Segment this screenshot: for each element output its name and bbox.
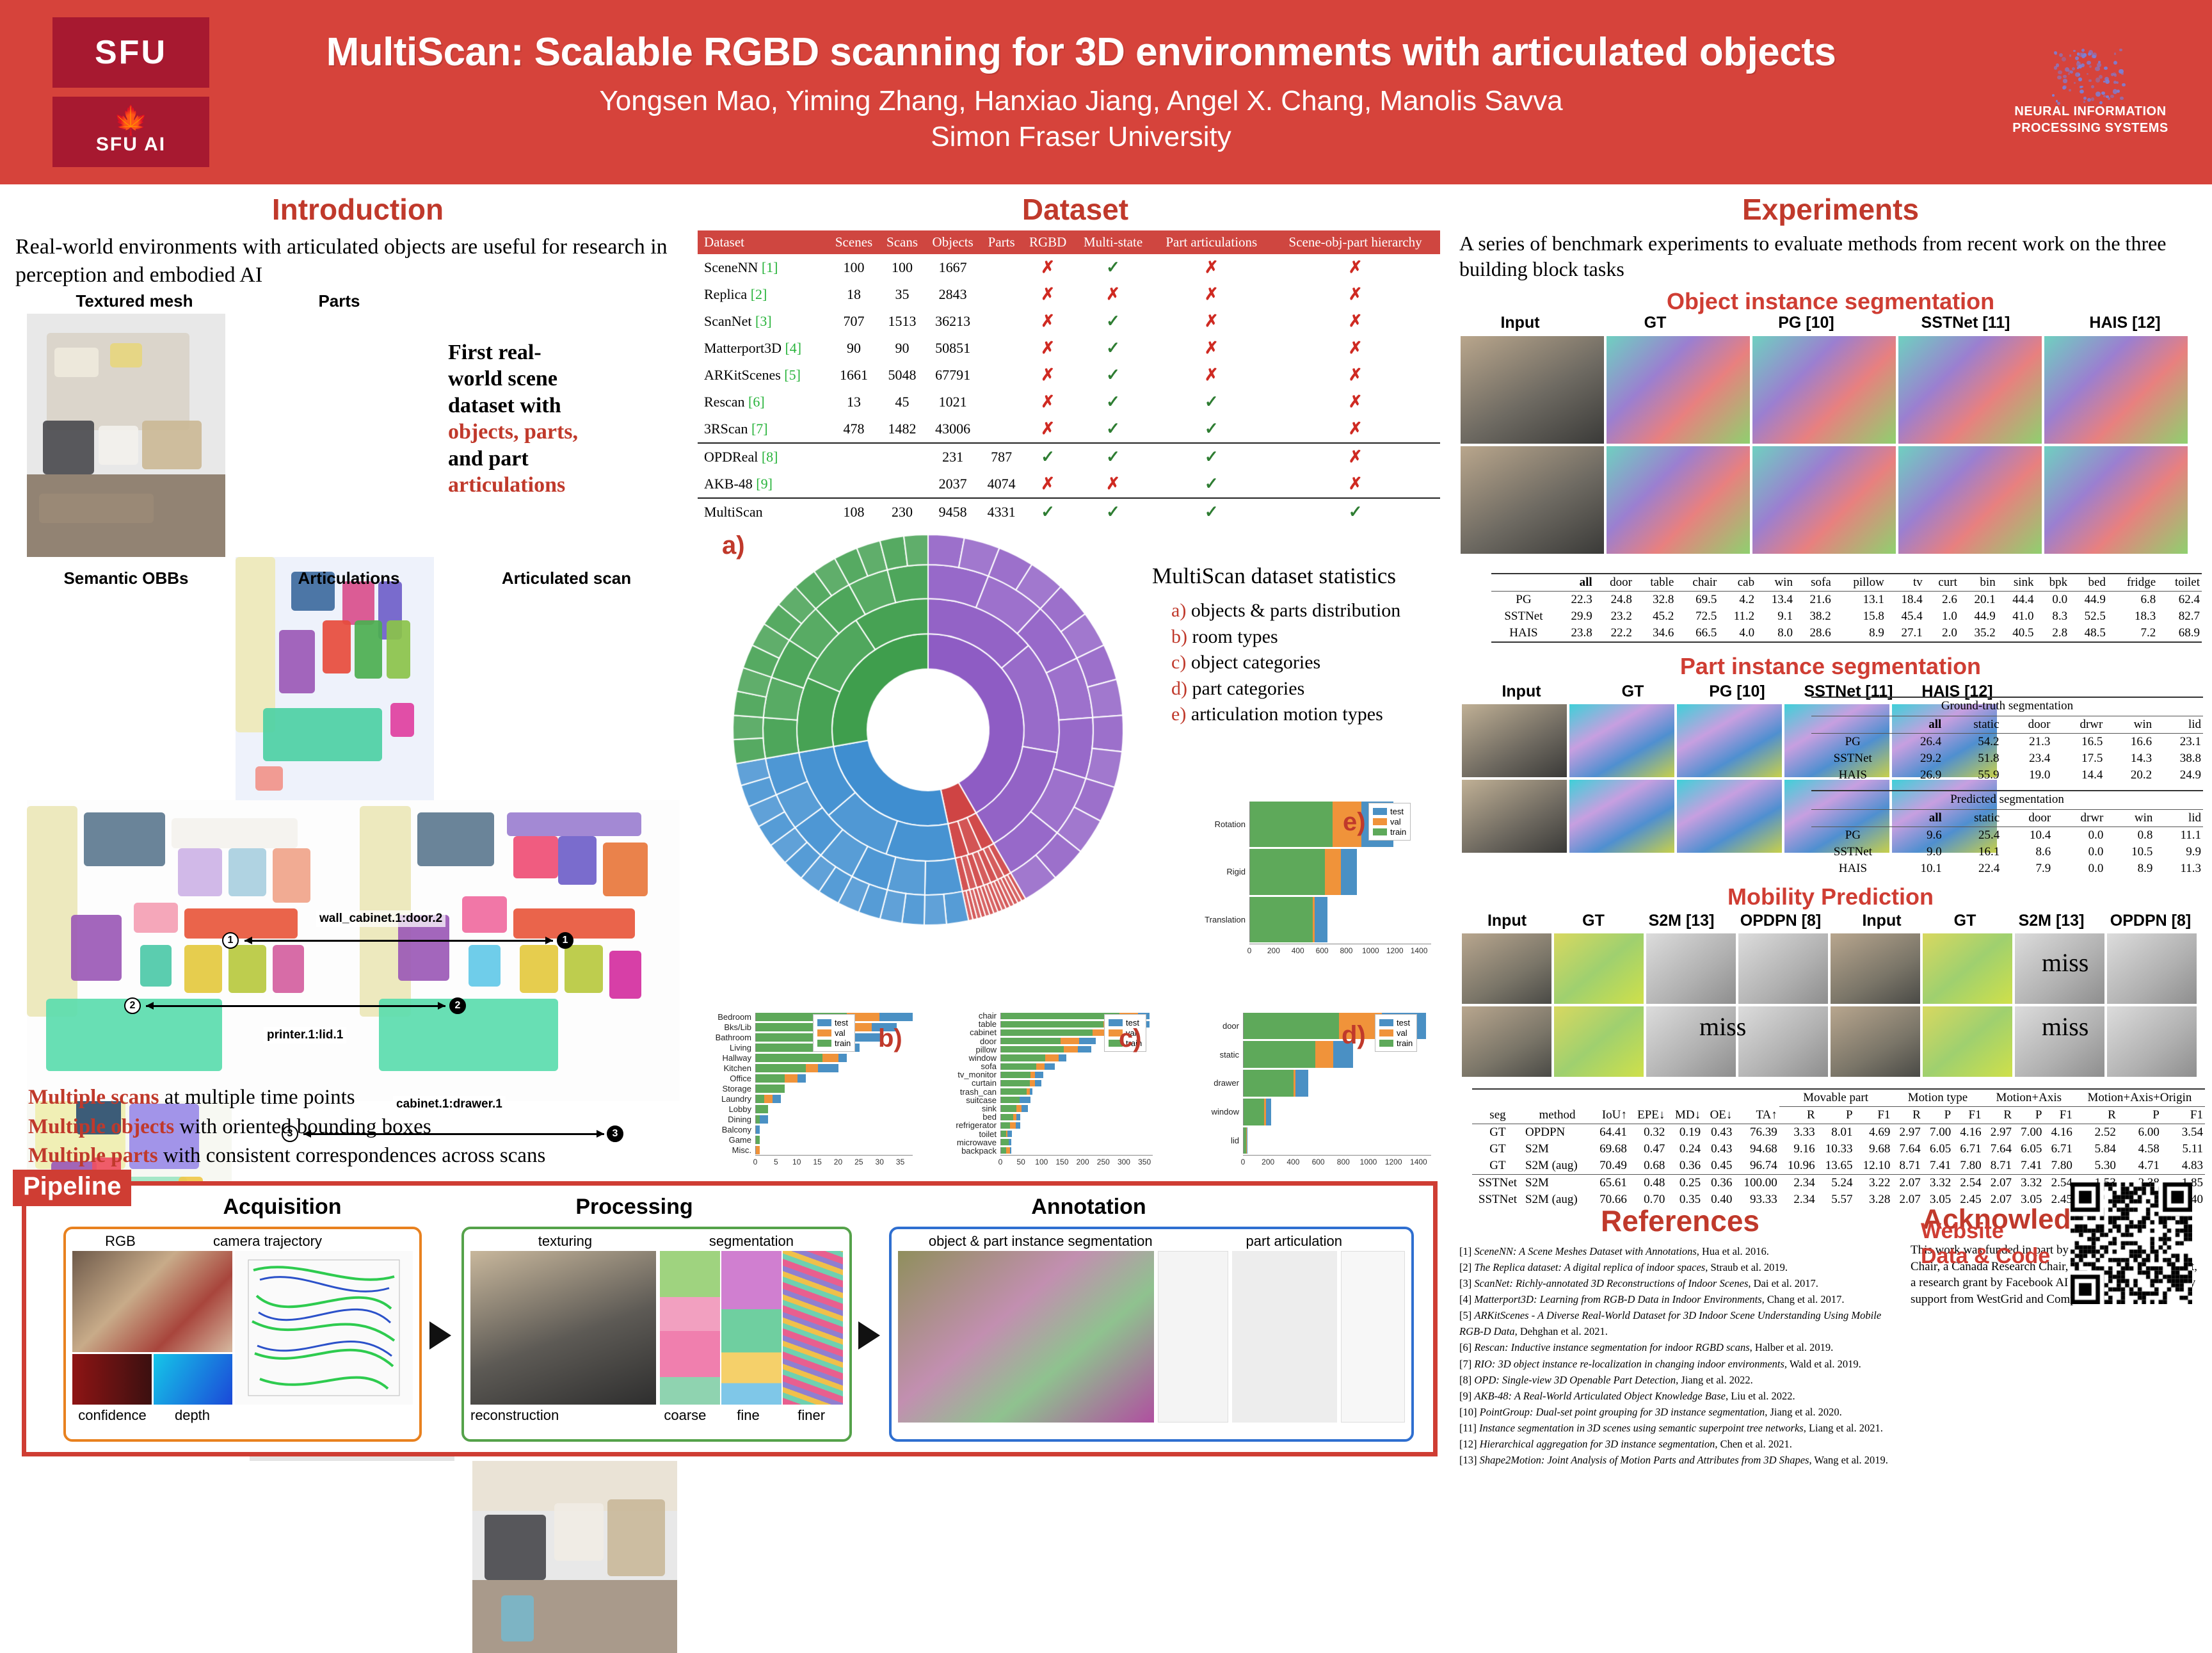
chart-segment-test <box>1009 1139 1012 1145</box>
cell-rgbd: ✗ <box>1022 362 1073 389</box>
col-rgbd: RGBD <box>1022 230 1073 254</box>
cell-hierarchy: ✗ <box>1270 415 1440 443</box>
objseg-col-gt: GT <box>1581 314 1729 332</box>
introduction-title: Introduction <box>15 192 700 227</box>
cell-value: 4.83 <box>2161 1157 2205 1175</box>
cell-parts: 4074 <box>981 471 1022 498</box>
cell-value: 62.4 <box>2158 592 2202 609</box>
chart-category-label: drawer <box>1203 1078 1243 1088</box>
cell-value: 22.2 <box>1594 625 1634 642</box>
check-icon: ✓ <box>1041 448 1055 466</box>
cell-part-articulations: ✓ <box>1152 415 1270 443</box>
chart-category-label: Lobby <box>710 1104 755 1114</box>
chart-segment-test <box>1045 1063 1055 1070</box>
cell-objects: 2843 <box>924 281 981 308</box>
object-seg-results-table: alldoortablechaircabwinsofapillowtvcurtb… <box>1491 573 2202 645</box>
chart-bar-row: tv_monitor <box>950 1070 1162 1079</box>
objseg-col-head: cab <box>1719 574 1756 592</box>
chart-category-label: Misc. <box>710 1145 755 1155</box>
legend-item-test: test <box>1379 1018 1413 1028</box>
table-row: SSTNet29.923.245.272.511.29.138.215.845.… <box>1491 608 2202 625</box>
cross-icon: ✗ <box>1205 312 1219 330</box>
cell-hierarchy: ✗ <box>1270 443 1440 471</box>
cell-hierarchy: ✗ <box>1270 281 1440 308</box>
partseg-col-head: door <box>2001 716 2053 734</box>
cell-value: 35.2 <box>1959 625 1998 642</box>
col-parts: Parts <box>981 230 1022 254</box>
chart-category-label: Game <box>710 1135 755 1145</box>
chart-segment-test <box>1010 1147 1012 1154</box>
cell-multistate: ✓ <box>1074 415 1153 443</box>
chart-tick-label: 10 <box>792 1157 801 1166</box>
check-icon: ✓ <box>1205 503 1219 521</box>
object-seg-column-headers: Input GT PG [10] SSTNet [11] HAIS [12] <box>1459 314 2202 332</box>
neurips-dots-icon <box>1994 48 2186 103</box>
cell-value: 13.1 <box>1833 592 1886 609</box>
cell-seg: GT <box>1472 1141 1523 1157</box>
proc-segmentation-images <box>660 1251 843 1405</box>
chart-bar-row: Lobby <box>710 1104 922 1114</box>
chart-tick-label: 200 <box>1267 946 1280 955</box>
objseg-col-head: door <box>1594 574 1634 592</box>
chart-bar-row: sofa <box>950 1062 1162 1070</box>
chart-category-label: Dining <box>710 1115 755 1124</box>
table-row: GTS2M69.680.470.240.4394.689.1610.339.68… <box>1472 1141 2205 1157</box>
legend-item-train: train <box>1373 827 1406 837</box>
objseg-col-hais: HAIS [12] <box>2048 314 2202 332</box>
chart-segment-val <box>764 1095 773 1103</box>
cell-value: 2.8 <box>2036 625 2070 642</box>
annot-label-part-articulation: part articulation <box>1183 1233 1406 1250</box>
cell-multistate: ✓ <box>1074 443 1153 471</box>
result-thumbnail <box>2044 336 2188 444</box>
cell-method: PG <box>1811 734 1895 751</box>
cell-objects: 1667 <box>924 254 981 281</box>
cell-value: 17.5 <box>2052 750 2104 767</box>
cell-part-articulations: ✗ <box>1152 281 1270 308</box>
col-hierarchy: Scene-obj-part hierarchy <box>1270 230 1440 254</box>
chart-segment-train <box>756 1064 806 1072</box>
caption-articulations: Articulations <box>256 568 442 588</box>
cell-value: 4.69 <box>1855 1124 1893 1141</box>
check-icon: ✓ <box>1106 312 1120 330</box>
sunburst-canvas <box>717 519 1139 941</box>
cell-value: 76.39 <box>1734 1124 1779 1141</box>
chart-tick-label: 15 <box>813 1157 821 1166</box>
caption-articulated-scan: Articulated scan <box>474 568 659 588</box>
chart-segment-test <box>1016 1122 1020 1129</box>
cell-scans: 1482 <box>880 415 925 443</box>
cell-scenes: 13 <box>828 389 879 415</box>
chart-segment-train <box>1001 1080 1030 1086</box>
mob-col-head: F1 <box>1855 1107 1893 1124</box>
intro-bullet-list: Multiple scans at multiple time points M… <box>28 1083 694 1171</box>
chart-segment-train <box>1001 1122 1010 1129</box>
cross-icon: ✗ <box>1349 258 1363 277</box>
chart-category-label: Rotation <box>1203 819 1249 829</box>
mob-col-head: P <box>1923 1107 1953 1124</box>
chart-segment-test <box>1266 1099 1271 1125</box>
scan-right <box>360 800 680 1101</box>
chart-tick-label: 1000 <box>1360 1157 1377 1166</box>
proc-label-texturing: texturing <box>470 1233 660 1250</box>
table-row: PG26.454.221.316.516.623.1 <box>1811 734 2203 751</box>
chart-tick-label: 1200 <box>1386 946 1404 955</box>
scan-left <box>27 800 342 1101</box>
partseg-col-head: drwr <box>2052 716 2104 734</box>
annot-tool-screenshot-2 <box>1232 1251 1337 1423</box>
chart-segment-test <box>797 1074 806 1083</box>
chart-category-label: Living <box>710 1043 755 1052</box>
callout-line-6: articulations <box>448 473 565 497</box>
objseg-col-head: toilet <box>2158 574 2202 592</box>
cell-value: 0.36 <box>1667 1157 1703 1175</box>
cell-value: 8.9 <box>2105 860 2154 877</box>
chart-bar-row: Kitchen <box>710 1063 922 1073</box>
mob-col-head: TA↑ <box>1734 1107 1779 1124</box>
annotation-label-2: printer.1:lid.1 <box>264 1027 346 1044</box>
check-icon: ✓ <box>1205 448 1219 466</box>
reference-item: [5] ARKitScenes - A Diverse Real-World D… <box>1459 1307 1901 1339</box>
sfu-logo-group: SFU 🍁 SFU AI <box>52 17 225 167</box>
intro-bullet-3: Multiple parts with consistent correspon… <box>28 1141 694 1171</box>
chart-tick-label: 20 <box>834 1157 842 1166</box>
mobility-column-headers-left: Input GT S2M [13] OPDPN [8] <box>1461 912 1832 930</box>
cell-value: 11.1 <box>2154 827 2203 844</box>
cell-value: 0.68 <box>1629 1157 1667 1175</box>
check-icon: ✓ <box>1106 419 1120 438</box>
cell-value: 0.0 <box>2053 844 2105 860</box>
cell-value: 6.8 <box>2108 592 2158 609</box>
chart-segment-train <box>1250 802 1333 848</box>
introduction-section: Introduction Real-world environments wit… <box>15 192 700 289</box>
cell-scans: 100 <box>880 254 925 281</box>
chart-category-label: Kitchen <box>710 1063 755 1073</box>
cell-multistate: ✓ <box>1074 335 1153 362</box>
cell-multistate: ✓ <box>1074 389 1153 415</box>
cell-value: 16.6 <box>2104 734 2154 751</box>
cell-value: 1.0 <box>1925 608 1959 625</box>
cross-icon: ✗ <box>1041 366 1055 384</box>
cell-part-articulations: ✓ <box>1152 498 1270 526</box>
cell-value: 0.32 <box>1629 1124 1667 1141</box>
cell-method: SSTNet <box>1491 608 1556 625</box>
chart-segment-test <box>1079 1038 1096 1044</box>
objseg-col-head: bpk <box>2036 574 2070 592</box>
chart-bar-row: backpack <box>950 1147 1162 1155</box>
table-row: Replica [2]18352843✗✗✗✗ <box>698 281 1440 308</box>
partseg-col-head <box>1811 716 1895 734</box>
check-icon: ✓ <box>1205 392 1219 411</box>
cell-value: 0.0 <box>2036 592 2070 609</box>
cell-method: HAIS <box>1811 860 1895 877</box>
cell-parts: 787 <box>981 443 1022 471</box>
partseg-col-input: Input <box>1461 682 1582 701</box>
objseg-col-head: all <box>1556 574 1594 592</box>
qr-code[interactable] <box>2071 1182 2192 1304</box>
legend-item-train: train <box>1379 1038 1413 1048</box>
chart-segment-val <box>1016 1105 1022 1111</box>
cell-value: 51.8 <box>1943 750 2001 767</box>
cell-multistate: ✗ <box>1074 471 1153 498</box>
group-header: Motion+Axis <box>1984 1089 2074 1107</box>
acq-rgb-images <box>72 1251 232 1405</box>
pipeline-box-processing: texturing segmentation reconstruction co… <box>461 1227 852 1442</box>
chart-bar-row: Hallway <box>710 1052 922 1063</box>
object-instance-seg-heading: Object instance segmentation <box>1459 288 2202 315</box>
col-scenes: Scenes <box>828 230 879 254</box>
chart-segment-train <box>1001 1029 1093 1036</box>
stats-item: d) part categories <box>1171 676 1453 702</box>
stats-item: c) object categories <box>1171 650 1453 676</box>
cell-value: 0.8 <box>2105 827 2154 844</box>
partseg-col-gt: GT <box>1582 682 1683 701</box>
chart-x-axis: 0200400600800100012001400 <box>1249 944 1431 958</box>
miss-label-2: miss <box>1699 1012 1746 1042</box>
cell-rgbd: ✗ <box>1022 415 1073 443</box>
chart-segment-train <box>1250 897 1313 943</box>
cell-objects: 231 <box>924 443 981 471</box>
chart-tick-label: 600 <box>1316 946 1329 955</box>
cell-value: 6.05 <box>1923 1141 1953 1157</box>
result-thumbnail <box>1462 704 1567 777</box>
result-thumbnail <box>1646 933 1736 1004</box>
chart-tick-label: 0 <box>753 1157 758 1166</box>
cell-value: 2.0 <box>1925 625 1959 642</box>
chart-segment-test <box>1020 1097 1030 1103</box>
cell-value: 11.2 <box>1719 608 1756 625</box>
chart-category-label: window <box>1203 1107 1243 1117</box>
chart-bar-row: window <box>950 1054 1162 1062</box>
result-thumbnail <box>1738 933 1828 1004</box>
table-row: Rescan [6]13451021✗✓✓✗ <box>698 389 1440 415</box>
callout-line-4: objects, parts, <box>448 420 578 444</box>
mob-col-head: MD↓ <box>1667 1107 1703 1124</box>
experiments-section: Experiments A series of benchmark experi… <box>1459 192 2202 319</box>
cell-value: 100.00 <box>1734 1175 1779 1192</box>
page-title: MultiScan: Scalable RGBD scanning for 3D… <box>225 31 1937 73</box>
cell-parts <box>981 308 1022 335</box>
cell-value: 3.33 <box>1779 1124 1817 1141</box>
chart-category-label: Translation <box>1203 915 1249 924</box>
mob-col-head: F1 <box>2044 1107 2074 1124</box>
cell-value: 69.68 <box>1591 1141 1629 1157</box>
cell-value: 0.45 <box>1703 1157 1734 1175</box>
chart-category-label: backpack <box>950 1146 1000 1156</box>
mob-col-head: R <box>1984 1107 2014 1124</box>
references-section: References [1] SceneNN: A Scene Meshes D… <box>1459 1204 1901 1468</box>
cell-value: 70.49 <box>1591 1157 1629 1175</box>
cell-value: 68.9 <box>2158 625 2202 642</box>
partseg-col-head: drwr <box>2053 810 2105 827</box>
miss-label-1: miss <box>2042 947 2088 978</box>
panel-letter-a: a) <box>722 531 745 560</box>
cell-rgbd: ✗ <box>1022 281 1073 308</box>
cell-value: 11.3 <box>2154 860 2203 877</box>
cell-part-articulations: ✓ <box>1152 389 1270 415</box>
check-icon: ✓ <box>1205 474 1219 493</box>
cell-value: 10.96 <box>1779 1157 1817 1175</box>
cell-value: 24.9 <box>2154 767 2203 784</box>
mob-col-head: P <box>2118 1107 2161 1124</box>
cell-value: 19.0 <box>2001 767 2053 784</box>
chart-segment-test <box>1035 1072 1043 1078</box>
cell-value: 4.2 <box>1719 592 1756 609</box>
chart-bar-row: trash_can <box>950 1088 1162 1096</box>
cross-icon: ✗ <box>1349 419 1363 438</box>
cell-value: 10.4 <box>2001 827 2053 844</box>
badge-left-2: 2 <box>124 997 141 1014</box>
reference-item: [10] PointGroup: Dual-set point grouping… <box>1459 1404 1901 1420</box>
chart-segment-test <box>1315 897 1327 943</box>
cell-value: 4.16 <box>2044 1124 2074 1141</box>
sfu-ai-logo: 🍁 SFU AI <box>52 97 209 167</box>
chart-bar-row: Game <box>710 1134 922 1145</box>
chart-bar-row: window <box>1203 1097 1440 1126</box>
dataset-statistics: MultiScan dataset statistics a) objects … <box>1152 563 1453 728</box>
cell-value: 2.07 <box>1984 1175 2014 1192</box>
cell-value: 12.10 <box>1855 1157 1893 1175</box>
pipeline-section: Acquisition Processing Annotation RGB ca… <box>22 1181 1438 1456</box>
chart-tick-label: 0 <box>998 1157 1003 1166</box>
cell-method: S2M (aug) <box>1523 1157 1591 1175</box>
chart-tick-label: 350 <box>1138 1157 1151 1166</box>
check-icon: ✓ <box>1349 503 1363 521</box>
table-caption: Ground-truth segmentation <box>1811 697 2203 716</box>
reference-item: [6] Rescan: Inductive instance segmentat… <box>1459 1339 1901 1355</box>
legend-item-val: val <box>1373 817 1406 826</box>
sfu-logo-text: SFU <box>95 33 167 72</box>
chart-segment-train <box>1001 1013 1119 1019</box>
chart-bar-row: drawer <box>1203 1069 1440 1098</box>
object-seg-image-grid <box>1461 336 2202 560</box>
objseg-col-head: bed <box>2069 574 2108 592</box>
chart-category-label: Rigid <box>1203 867 1249 876</box>
cell-scenes <box>828 443 879 471</box>
cell-value: 8.01 <box>1817 1124 1855 1141</box>
result-thumbnail <box>1607 446 1750 554</box>
chart-segment-train <box>1001 1097 1020 1103</box>
cell-hierarchy: ✗ <box>1270 254 1440 281</box>
reference-item: [1] SceneNN: A Scene Meshes Dataset with… <box>1459 1243 1901 1259</box>
reference-item: [7] RIO: 3D object instance re-localizat… <box>1459 1356 1901 1372</box>
reference-item: [8] OPD: Single-view 3D Openable Part De… <box>1459 1372 1901 1388</box>
table-header-row: Dataset Scenes Scans Objects Parts RGBD … <box>698 230 1440 254</box>
chart-segment-train <box>1001 1131 1006 1137</box>
cross-icon: ✗ <box>1205 339 1219 357</box>
chart-tick-label: 200 <box>1262 1157 1274 1166</box>
cross-icon: ✗ <box>1349 392 1363 411</box>
chart-segment-test <box>1295 1070 1308 1097</box>
objseg-col-head: sofa <box>1795 574 1833 592</box>
cell-multistate: ✓ <box>1074 362 1153 389</box>
chart-x-axis: 05101520253035 <box>755 1155 913 1169</box>
chart-segment-test <box>855 1033 880 1042</box>
table-header-row: segmethodIoU↑EPE↓MD↓OE↓TA↑RPF1RPF1RPF1RP… <box>1472 1107 2205 1124</box>
partseg-col-head: lid <box>2154 716 2203 734</box>
cell-multistate: ✓ <box>1074 308 1153 335</box>
cell-scenes: 18 <box>828 281 879 308</box>
chart-segment-test <box>760 1115 768 1124</box>
cell-scans <box>880 443 925 471</box>
cell-value: 16.1 <box>1944 844 2001 860</box>
cell-value: 3.32 <box>1923 1175 1953 1192</box>
table-group-header-row: Movable partMotion typeMotion+AxisMotion… <box>1472 1089 2205 1107</box>
result-thumbnail <box>1462 780 1567 853</box>
cell-parts <box>981 335 1022 362</box>
pipeline-arrow-2-icon <box>858 1321 880 1350</box>
result-thumbnail <box>1831 933 1920 1004</box>
cell-value: 28.6 <box>1795 625 1833 642</box>
cell-value: 6.00 <box>2118 1124 2161 1141</box>
chart-part-categories: doorstaticdrawerwindowlid020040060080010… <box>1203 1012 1440 1172</box>
mob-col-head: R <box>1892 1107 1922 1124</box>
part-seg-gt-table: Ground-truth segmentationallstaticdoordr… <box>1811 697 2203 784</box>
cell-value: 82.7 <box>2158 608 2202 625</box>
cell-value: 22.4 <box>1944 860 2001 877</box>
partseg-col-pg: PG [10] <box>1683 682 1791 701</box>
cell-value: 18.4 <box>1886 592 1925 609</box>
caption-semantic-obbs: Semantic OBBs <box>33 568 219 588</box>
website-label: Website Data & Code <box>1921 1219 2050 1269</box>
chart-legend: testvaltrain <box>1375 1014 1417 1052</box>
cell-objects: 50851 <box>924 335 981 362</box>
table-row: ARKitScenes [5]1661504867791✗✓✗✗ <box>698 362 1440 389</box>
caption-textured-mesh: Textured mesh <box>64 291 205 311</box>
cell-value: 38.2 <box>1795 608 1833 625</box>
cell-part-articulations: ✗ <box>1152 254 1270 281</box>
cell-value: 20.1 <box>1959 592 1998 609</box>
chart-segment-train <box>756 1085 785 1093</box>
cell-value: 23.2 <box>1594 608 1634 625</box>
chart-category-label: Bedroom <box>710 1012 755 1022</box>
mob-r-col-input: Input <box>1837 912 1927 930</box>
cell-value: 7.80 <box>1953 1157 1983 1175</box>
annot-tool-screenshot-1 <box>898 1251 1154 1423</box>
chart-segment-train <box>1001 1021 1103 1028</box>
experiments-title: Experiments <box>1459 192 2202 227</box>
cell-value: 4.0 <box>1719 625 1756 642</box>
chart-segment-test <box>1341 849 1357 895</box>
acq-trajectory-image <box>235 1251 413 1405</box>
objseg-col-head: table <box>1634 574 1676 592</box>
cell-method: PG <box>1491 592 1556 609</box>
chart-segment-test <box>818 1064 838 1072</box>
chart-segment-train <box>756 1054 822 1062</box>
group-header: Movable part <box>1779 1089 1893 1107</box>
cell-objects: 2037 <box>924 471 981 498</box>
result-thumbnail <box>1923 933 2012 1004</box>
cell-value: 7.2 <box>2108 625 2158 642</box>
mob-col-head: F1 <box>2161 1107 2205 1124</box>
cell-part-articulations: ✗ <box>1152 362 1270 389</box>
cell-value: 54.2 <box>1943 734 2001 751</box>
callout-line-2: world scene <box>448 367 557 391</box>
neurips-line-2: PROCESSING SYSTEMS <box>1994 120 2186 136</box>
cell-value: 21.6 <box>1795 592 1833 609</box>
introduction-lead: Real-world environments with articulated… <box>15 233 700 289</box>
chart-bar-row: Storage <box>710 1083 922 1093</box>
proc-reconstruction-image <box>470 1251 656 1405</box>
cell-parts <box>981 415 1022 443</box>
cell-value: 3.54 <box>2161 1124 2205 1141</box>
poster-header: SFU 🍁 SFU AI MultiScan: Scalable RGBD sc… <box>0 0 2212 184</box>
cell-value: 29.2 <box>1895 750 1944 767</box>
objseg-col-sstnet: SSTNet [11] <box>1883 314 2048 332</box>
reference-item: [11] Instance segmentation in 3D scenes … <box>1459 1420 1901 1436</box>
cell-value: 34.6 <box>1634 625 1676 642</box>
cell-scans: 45 <box>880 389 925 415</box>
